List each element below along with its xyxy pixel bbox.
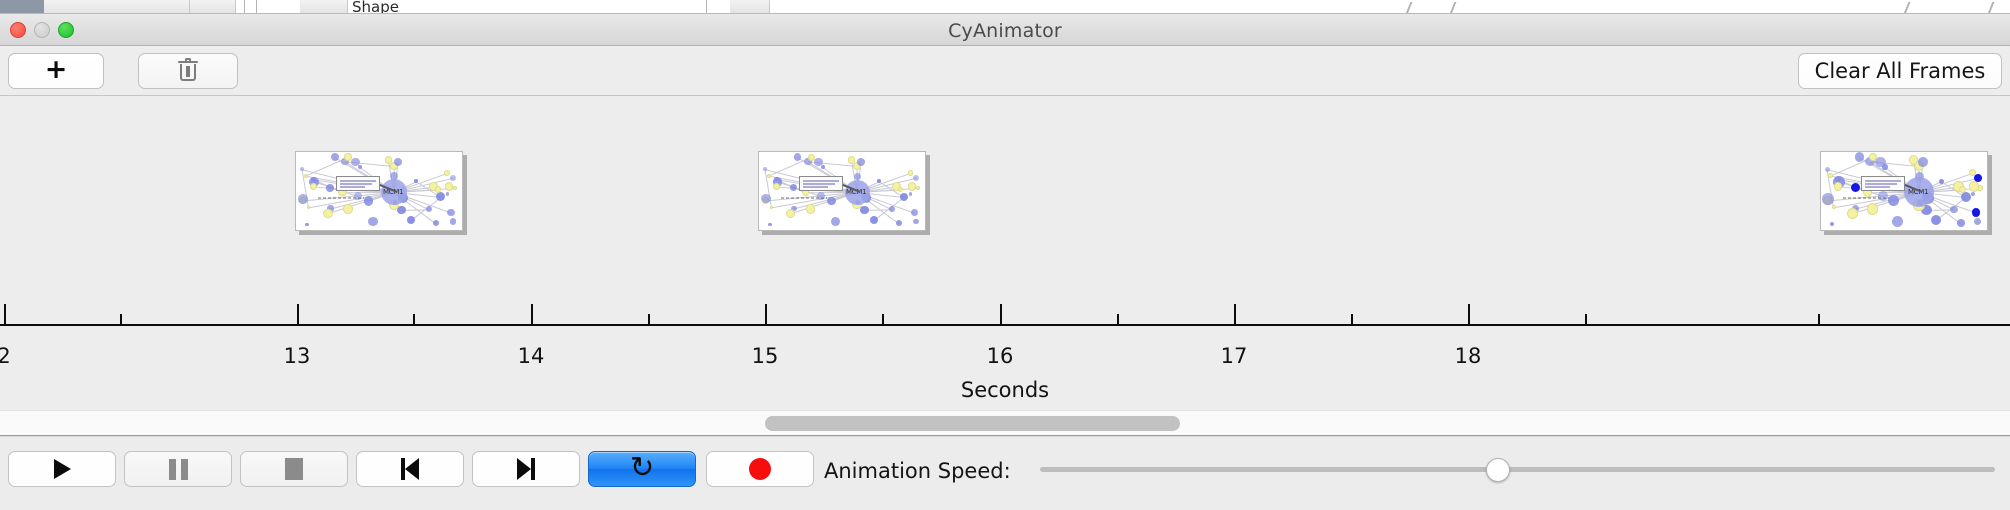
network-annotation-box [336,176,380,191]
bg-window-chunk [730,0,770,14]
network-node [446,192,449,195]
network-node [1974,218,1981,225]
network-node [831,217,840,226]
network-node [1931,215,1941,225]
axis-tick-label: 18 [1455,344,1482,368]
animation-speed-slider-thumb[interactable] [1486,458,1510,482]
axis-tick-major [4,304,6,324]
axis-tick-major [1234,304,1236,324]
network-node [450,218,456,224]
network-node [326,184,334,192]
network-node [450,175,457,182]
network-node [435,186,441,192]
record-icon [749,458,771,480]
bg-window-chunk [190,0,236,14]
network-node [444,170,450,176]
network-node [1834,182,1842,190]
network-annotation-text [318,197,364,199]
network-preview: MCM1 [1821,152,1987,230]
network-node [889,206,895,212]
network-node [786,209,795,218]
axis-tick-major [765,304,767,324]
network-node [385,156,393,164]
network-node [821,165,825,169]
network-node [1969,181,1980,192]
network-node [808,154,815,161]
pause-button[interactable] [124,451,232,487]
network-node [848,156,855,163]
play-button[interactable] [8,451,116,487]
timeline-frame-thumbnail[interactable]: MCM1 [758,151,926,231]
network-node [394,158,402,166]
network-node [445,182,454,191]
skip-back-button[interactable] [356,451,464,487]
axis-tick-minor [1351,314,1353,324]
network-node [331,153,339,161]
network-node [896,220,902,226]
network-node [1950,206,1957,213]
loop-icon: ↻ [630,453,654,482]
skip-forward-icon [517,458,535,480]
network-node [1828,173,1833,178]
network-node [790,184,797,191]
bg-window-dark [0,0,44,13]
network-node [1888,195,1899,206]
network-node [310,183,317,190]
network-node [767,174,771,178]
network-node [1847,208,1858,219]
timeline-axis-line [0,324,2010,326]
axis-tick-major [531,304,533,324]
network-node [323,209,333,219]
network-node [913,219,919,225]
axis-tick-major [297,304,299,324]
network-node [770,206,773,209]
axis-tick-minor [120,314,122,324]
network-node [447,209,454,216]
animation-speed-label: Animation Speed: [824,459,1011,483]
play-icon [54,459,71,479]
axis-tick-minor [648,314,650,324]
add-frame-button[interactable]: + [8,53,104,89]
network-node [857,158,865,166]
axis-tick-label: 15 [752,344,779,368]
axis-tick-minor [882,314,884,324]
network-node [1855,152,1864,161]
axis-tick-label: 13 [284,344,311,368]
timeline-hscrollbar-thumb[interactable] [765,416,1180,431]
axis-tick-major [1468,304,1470,324]
network-node [1830,222,1834,226]
network-node [1909,155,1918,164]
network-node [854,173,861,180]
network-node [433,220,439,226]
network-node [1851,183,1860,192]
network-node [773,183,780,190]
timeline-panel[interactable]: MCM1MCM1MCM1 2131415161718 Seconds [0,96,2010,410]
stop-icon [285,458,303,480]
transport-bar: ↻ Animation Speed: [0,436,2010,510]
animation-speed-slider[interactable] [1040,467,1995,472]
network-annotation-text [781,197,827,199]
network-node [870,216,878,224]
network-node [1939,179,1944,184]
bg-window-chunk [44,0,190,14]
network-node [1918,157,1928,167]
timeline-frame-thumbnail[interactable]: MCM1 [1820,151,1988,231]
pause-icon [169,459,188,480]
network-node [909,192,912,195]
axis-title-seconds: Seconds [0,378,2010,402]
network-node [1882,164,1887,169]
timeline-frame-thumbnail[interactable]: MCM1 [295,151,463,231]
delete-frame-button[interactable] [138,53,238,89]
bg-tick [256,0,257,14]
network-node [860,206,868,214]
network-node [343,204,353,214]
network-node [1822,193,1833,204]
timeline-hscrollbar-track[interactable] [0,410,2010,436]
network-node [1961,192,1972,203]
axis-tick-minor [1117,314,1119,324]
window-titlebar: CyAnimator [0,14,2010,46]
network-node [1957,219,1965,227]
plus-icon: + [45,56,68,83]
network-node [307,206,310,209]
network-node [900,193,909,202]
network-preview: MCM1 [759,152,925,230]
axis-tick-label: 17 [1221,344,1248,368]
clear-all-frames-button[interactable]: Clear All Frames [1798,53,2002,89]
network-preview: MCM1 [296,152,462,230]
axis-tick-label: 2 [0,344,11,368]
bg-tick [244,0,245,14]
network-node [768,223,771,226]
network-node [908,170,914,176]
network-node [827,197,836,206]
network-node [305,223,309,227]
skip-back-icon [401,458,419,480]
network-node [911,209,918,216]
network-annotation-box [799,176,843,191]
loop-button[interactable]: ↻ [588,451,696,487]
background-desktop-strip: Shape [0,0,2010,14]
network-node [453,186,457,190]
network-node [364,196,373,205]
network-node [1825,167,1830,172]
network-node [1867,203,1879,215]
network-node [1832,205,1836,209]
axis-tick-major [1000,304,1002,324]
network-node [1971,192,1975,196]
network-node [368,217,377,226]
bg-window-chunk [300,0,348,14]
skip-forward-button[interactable] [472,451,580,487]
axis-tick-label: 14 [518,344,545,368]
network-annotation-text [1843,197,1889,199]
network-node [426,206,432,212]
network-node [298,194,308,204]
network-node [344,153,351,160]
network-node [436,192,445,201]
axis-tick-minor [413,314,415,324]
network-node [761,194,770,203]
network-node [916,186,920,190]
network-node [407,216,415,224]
axis-tick-minor [1818,314,1820,324]
network-node [898,187,904,193]
window-title: CyAnimator [0,20,2010,42]
bg-shape-label: Shape [352,0,399,14]
stop-button[interactable] [240,451,348,487]
record-button[interactable] [706,451,814,487]
network-node [913,175,919,181]
cyanimator-window: CyAnimator + Clear All Frames MCM1MCM1MC… [0,13,2010,510]
network-node [806,204,815,213]
axis-tick-label: 16 [987,344,1014,368]
axis-tick-minor [1585,314,1587,324]
network-annotation-box [1861,176,1905,191]
network-node [1892,216,1903,227]
bg-tick [706,0,707,14]
network-node [1972,208,1981,217]
trash-icon [178,59,198,83]
network-node [908,182,916,190]
network-node [304,174,308,178]
frame-toolbar: + Clear All Frames [0,46,2010,96]
